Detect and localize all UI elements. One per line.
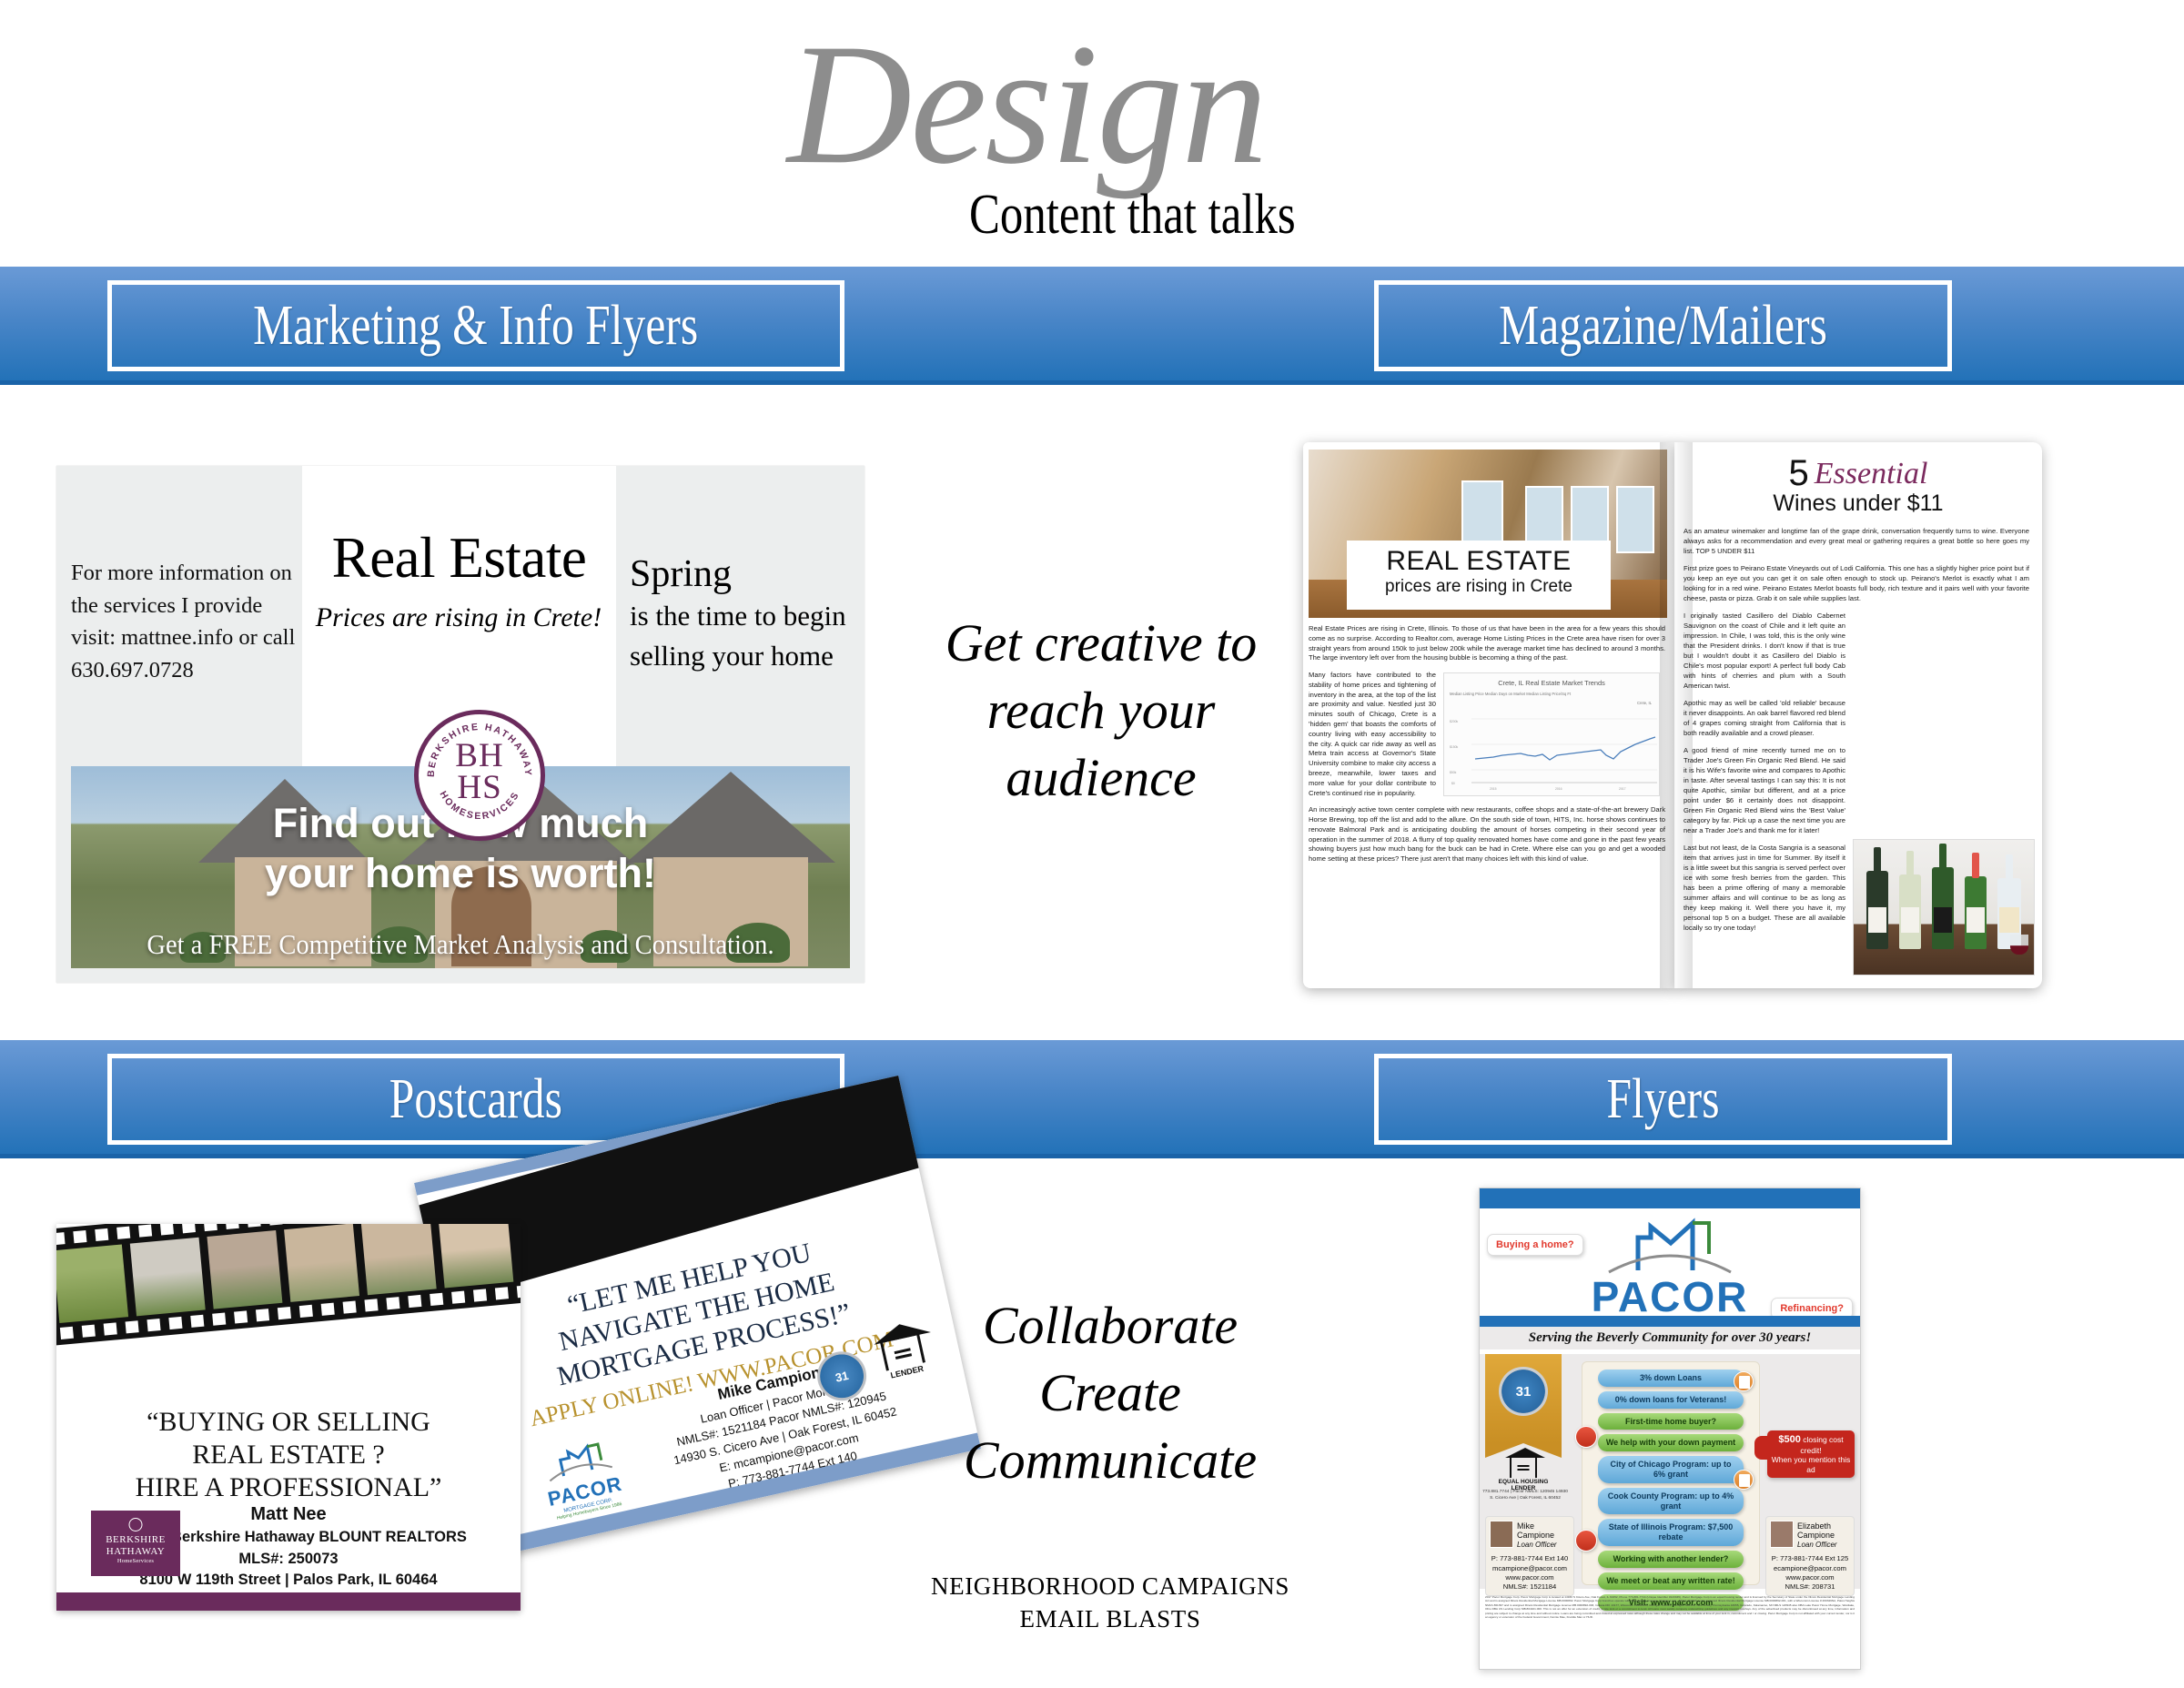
offer-item[interactable]: First-time home buyer? bbox=[1598, 1413, 1744, 1430]
film-frame bbox=[438, 1224, 513, 1289]
svg-text:$0: $0 bbox=[1451, 782, 1455, 785]
avatar bbox=[1490, 1521, 1513, 1548]
section-header-flyers[interactable]: Flyers bbox=[1374, 1054, 1952, 1145]
svg-text:$150k: $150k bbox=[1450, 745, 1459, 749]
promo-line1: closing cost credit! bbox=[1800, 1435, 1843, 1455]
officer-email: ecampione@pacor.com bbox=[1770, 1564, 1850, 1573]
film-frame bbox=[284, 1224, 359, 1302]
loan-officer-card: Mike Campione Loan Officer P: 773-881-77… bbox=[1485, 1516, 1574, 1596]
bhhs-line1: BERKSHIRE bbox=[91, 1534, 180, 1546]
wine-bottle bbox=[1932, 867, 1954, 949]
legal-disclaimer: 2017 Pacor Mortgage Corp. Pacor Mortgage… bbox=[1480, 1592, 1860, 1622]
artwork-realtor-postcard[interactable]: “BUYING OR SELLING REAL ESTATE ? HIRE A … bbox=[56, 1224, 521, 1611]
magazine-paragraph: As an amateur winemaker and longtime fan… bbox=[1683, 526, 2029, 556]
anniversary-seal-icon: 31 bbox=[1499, 1367, 1548, 1416]
officer-email: mcampione@pacor.com bbox=[1490, 1564, 1570, 1573]
flyer-footer-cta: Get a FREE Competitive Market Analysis a… bbox=[102, 928, 819, 961]
offer-item[interactable]: We help with your down payment bbox=[1598, 1434, 1744, 1451]
section-header-label: Flyers bbox=[1607, 1071, 1720, 1127]
flyer-title: Real Estate bbox=[302, 525, 616, 591]
magazine-paragraph: First prize goes to Peirano Estate Viney… bbox=[1683, 563, 2029, 603]
artwork-magazine-spread[interactable]: REAL ESTATE prices are rising in Crete R… bbox=[1303, 442, 2042, 988]
artwork-pacor-flyer[interactable]: Buying a home? Refinancing? PACOR MORTGA… bbox=[1479, 1188, 1861, 1670]
section-header-label: Marketing & Info Flyers bbox=[253, 298, 698, 354]
calculator-icon bbox=[1734, 1371, 1754, 1391]
magazine-article-title: REAL ESTATE bbox=[1347, 546, 1611, 577]
film-frame bbox=[361, 1224, 437, 1295]
wine-title-script: Essential bbox=[1815, 457, 1928, 491]
pacor-house-icon bbox=[1602, 1218, 1738, 1274]
filmstrip-graphic bbox=[56, 1224, 521, 1345]
promo-amount: $500 bbox=[1778, 1434, 1800, 1445]
svg-text:$200k: $200k bbox=[1450, 720, 1459, 723]
flyer-body: 31 EQUAL HOUSING LENDER 773.881.7744 | P… bbox=[1480, 1354, 1860, 1589]
magazine-paragraph: I originally tasted Casillero del Diablo… bbox=[1683, 611, 1845, 691]
wine-bottle bbox=[1965, 876, 1987, 949]
magazine-paragraph: A good friend of mine recently turned me… bbox=[1683, 745, 1845, 835]
section-header-magazine-mailers[interactable]: Magazine/Mailers bbox=[1374, 280, 1952, 371]
offer-item[interactable]: City of Chicago Program: up to 6% grant bbox=[1598, 1456, 1744, 1483]
note-line-1: NEIGHBORHOOD CAMPAIGNS bbox=[910, 1570, 1310, 1602]
magazine-column-row: Many factors have contributed to the sta… bbox=[1309, 671, 1665, 798]
bhhs-logo: BERKSHIRE HATHAWAY HOMESERVICES BH HS bbox=[414, 710, 545, 841]
chart-title: Crete, IL Real Estate Market Trends bbox=[1444, 679, 1659, 689]
magazine-paragraph: Many factors have contributed to the sta… bbox=[1309, 671, 1436, 798]
promo-closing-cost-credit: $500 closing cost credit! When you menti… bbox=[1767, 1430, 1855, 1478]
tagline-collaborate: Collaborate Create Communicate bbox=[910, 1292, 1310, 1495]
lender-small-label: EQUAL HOUSING bbox=[1498, 1479, 1549, 1485]
svg-text:2016: 2016 bbox=[1555, 787, 1562, 791]
market-trends-chart: Crete, IL Real Estate Market Trends Medi… bbox=[1443, 672, 1660, 796]
branch-address: 773.881.7744 | Pacor NMLS: 120945 14930 … bbox=[1481, 1489, 1569, 1501]
svg-text:2017: 2017 bbox=[1619, 787, 1626, 791]
tagline-services-note: NEIGHBORHOOD CAMPAIGNS EMAIL BLASTS bbox=[910, 1570, 1310, 1636]
officer-nmls: NMLS#: 208731 bbox=[1770, 1582, 1850, 1592]
wine-article-title: 5Essential Wines under $11 bbox=[1674, 453, 2042, 517]
window bbox=[1616, 486, 1654, 553]
magazine-paragraph: Real Estate Prices are rising in Crete, … bbox=[1309, 624, 1665, 663]
bhhs-logo: BERKSHIRE HATHAWAY HomeServices bbox=[91, 1511, 180, 1576]
magazine-title-block: REAL ESTATE prices are rising in Crete bbox=[1347, 541, 1611, 610]
bhhs-line2: HATHAWAY bbox=[91, 1546, 180, 1558]
promo-line2: When you mention this ad bbox=[1770, 1455, 1852, 1473]
note-line-2: EMAIL BLASTS bbox=[910, 1602, 1310, 1635]
svg-text:2015: 2015 bbox=[1490, 787, 1497, 791]
wine-glass bbox=[2010, 935, 2028, 955]
bhhs-initials: BH HS bbox=[419, 740, 541, 804]
magazine-article-subtitle: prices are rising in Crete bbox=[1347, 577, 1611, 597]
flyer-spring-rest: is the time to begin selling your home bbox=[630, 600, 846, 672]
wine-title-number: 5 bbox=[1789, 453, 1809, 494]
officer-phone: P: 773-881-7744 Ext 140 bbox=[1490, 1550, 1570, 1563]
offer-item[interactable]: Working with another lender? bbox=[1598, 1551, 1744, 1568]
bhhs-line3: HomeServices bbox=[91, 1558, 180, 1565]
magazine-right-page: 5Essential Wines under $11 As an amateur… bbox=[1674, 442, 2042, 988]
offer-item[interactable]: We meet or beat any written rate! bbox=[1598, 1572, 1744, 1590]
magazine-left-page: REAL ESTATE prices are rising in Crete R… bbox=[1303, 442, 1674, 988]
magazine-paragraph: Last but not least, de la Costa Sangria … bbox=[1683, 843, 1845, 933]
officer-phone: P: 773-881-7744 Ext 125 bbox=[1770, 1550, 1850, 1563]
section-header-label: Magazine/Mailers bbox=[1499, 298, 1827, 354]
wine-bottle bbox=[1866, 871, 1888, 949]
film-frame bbox=[207, 1230, 282, 1309]
loan-officer-card: Elizabeth Campione Loan Officer P: 773-8… bbox=[1765, 1516, 1855, 1596]
magnifier-icon bbox=[1575, 1530, 1597, 1552]
flyer-top-bar bbox=[1480, 1188, 1860, 1208]
svg-text:$50k: $50k bbox=[1450, 771, 1457, 774]
flyer-contact-text: For more information on the services I p… bbox=[71, 557, 298, 686]
magazine-paragraph: Apothic may as well be called 'old relia… bbox=[1683, 698, 1845, 738]
section-header-marketing-flyers[interactable]: Marketing & Info Flyers bbox=[107, 280, 844, 371]
officer-web: www.pacor.com bbox=[1490, 1573, 1570, 1582]
magazine-article-body: Real Estate Prices are rising in Crete, … bbox=[1309, 624, 1665, 872]
flyer-spring-word: Spring bbox=[630, 552, 857, 596]
film-frame bbox=[56, 1244, 128, 1323]
postcard-headline: “BUYING OR SELLING REAL ESTATE ? HIRE A … bbox=[56, 1406, 521, 1504]
tagline-get-creative: Get creative to reach your audience bbox=[910, 610, 1292, 813]
anniversary-ribbon: 31 bbox=[1485, 1354, 1562, 1443]
wine-bottle bbox=[1899, 874, 1921, 949]
calculator-icon bbox=[1734, 1470, 1754, 1490]
film-frame bbox=[130, 1238, 206, 1317]
chart-tabs: Median Listing Price Median Days on Mark… bbox=[1450, 692, 1571, 697]
officer-web: www.pacor.com bbox=[1770, 1573, 1850, 1582]
section-banner-bottom: Postcards Flyers bbox=[0, 1040, 2184, 1158]
design-portfolio-page: Design Content that talks Marketing & In… bbox=[0, 0, 2184, 1688]
offer-item[interactable]: State of Illinois Program: $7,500 rebate bbox=[1598, 1519, 1744, 1546]
page-subtitle: Content that talks bbox=[969, 187, 1296, 243]
offer-item[interactable]: Cook County Program: up to 4% grant bbox=[1598, 1488, 1744, 1515]
offer-item[interactable]: 3% down Loans bbox=[1598, 1370, 1744, 1387]
magnifier-icon bbox=[1575, 1426, 1597, 1448]
avatar bbox=[1770, 1521, 1794, 1548]
wine-bottles-photo bbox=[1853, 839, 2035, 975]
page-header: Design Content that talks bbox=[0, 0, 2184, 264]
bhhs-mark-icon bbox=[129, 1518, 143, 1531]
flyer-tagline: Serving the Beverly Community for over 3… bbox=[1480, 1327, 1860, 1349]
pacor-logo: PACOR MORTGAGE CORP. bbox=[1480, 1218, 1860, 1331]
flyer-spring-text: Spring is the time to begin selling your… bbox=[630, 552, 857, 676]
artwork-real-estate-flyer[interactable]: For more information on the services I p… bbox=[56, 466, 864, 983]
offers-list: 3% down Loans 0% down loans for Veterans… bbox=[1582, 1361, 1760, 1585]
page-title: Design bbox=[787, 18, 1266, 191]
wine-title-subtitle: Wines under $11 bbox=[1674, 490, 2042, 517]
chart-plot: $200k $150k $50k $0 2015 2016 2017 bbox=[1444, 702, 1661, 793]
section-banner-top: Marketing & Info Flyers Magazine/Mailers bbox=[0, 267, 2184, 385]
officer-nmls: NMLS#: 1521184 bbox=[1490, 1582, 1570, 1592]
magazine-paragraph: An increasingly active town center compl… bbox=[1309, 805, 1665, 864]
magazine-chart-wrap: Crete, IL Real Estate Market Trends Medi… bbox=[1443, 671, 1660, 798]
equal-housing-lender-icon: EQUAL HOUSING LENDER bbox=[1498, 1456, 1549, 1491]
pacor-wordmark: PACOR bbox=[1480, 1276, 1860, 1318]
offer-item[interactable]: 0% down loans for Veterans! bbox=[1598, 1391, 1744, 1409]
flyer-subtitle: Prices are rising in Crete! bbox=[295, 602, 622, 633]
postcard-bottom-bar bbox=[56, 1592, 521, 1611]
section-header-label: Postcards bbox=[389, 1071, 562, 1127]
